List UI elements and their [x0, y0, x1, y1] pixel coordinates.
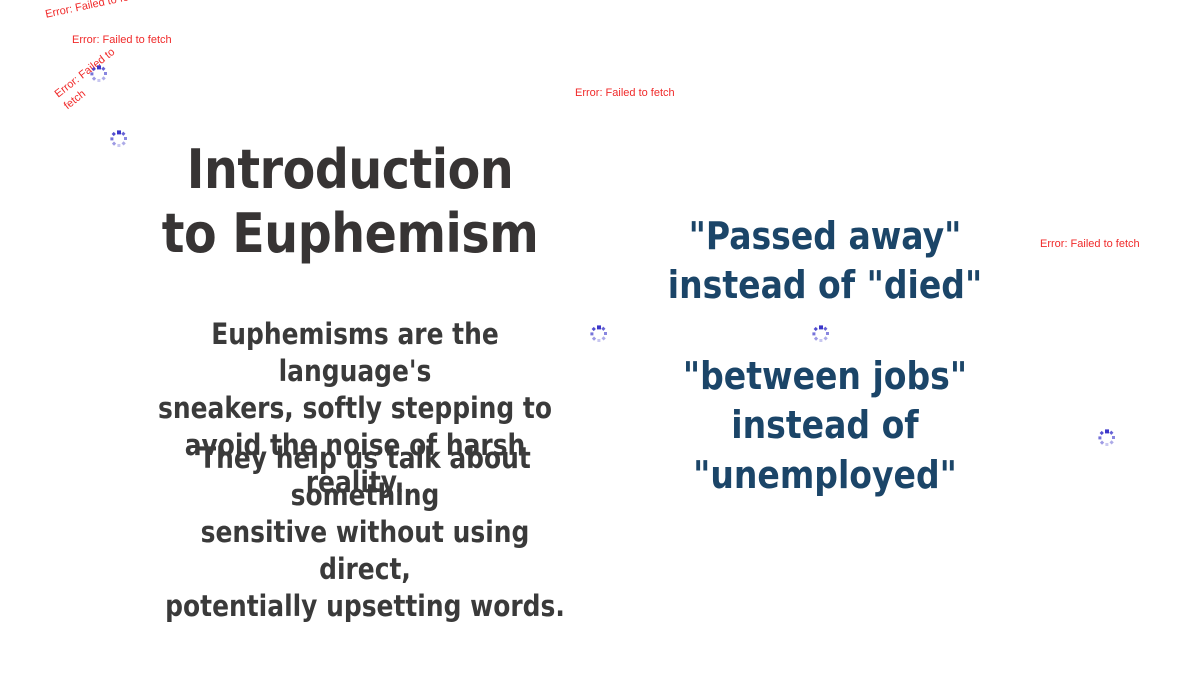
- error-message-toast: Error: Failed to fetch: [72, 33, 172, 48]
- slide-paragraph-2: They help us talk about something sensit…: [154, 440, 575, 626]
- loading-spinner: [590, 325, 608, 343]
- slide-title: Introduction to Euphemism: [148, 138, 553, 265]
- loading-spinner: [110, 130, 128, 148]
- loading-spinner: [1098, 429, 1116, 447]
- error-message-toast: Error: Failed to fetch: [575, 86, 675, 101]
- loading-spinner: [812, 325, 830, 343]
- error-message-toast: Error: Failed to fetch: [44, 0, 145, 23]
- euphemism-example-2: "between jobs" instead of "unemployed": [664, 352, 986, 500]
- error-message-toast: Error: Failed to fetch: [1040, 237, 1140, 252]
- loading-spinner: [90, 65, 108, 83]
- slide-canvas: Error: Failed to fetch Error: Failed to …: [0, 0, 1200, 675]
- euphemism-example-1: "Passed away" instead of "died": [664, 212, 986, 311]
